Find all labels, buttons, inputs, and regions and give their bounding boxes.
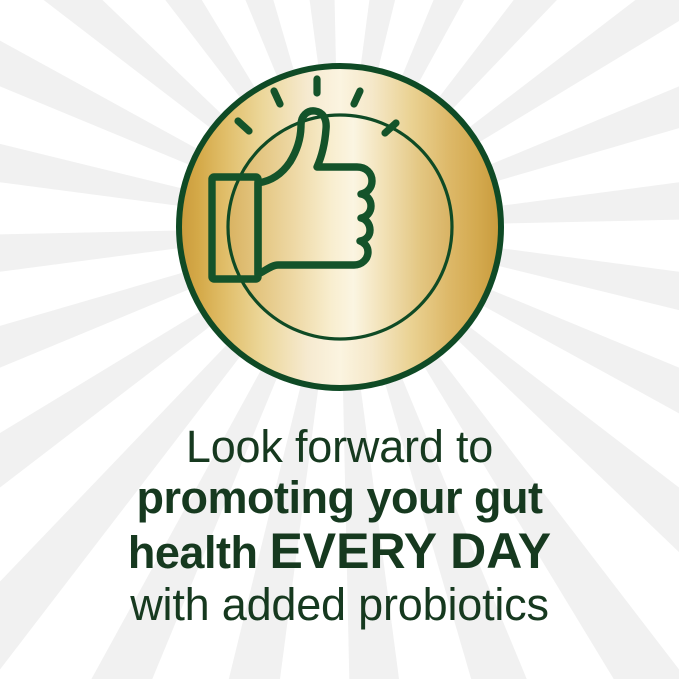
headline-line-3-emphasis: EVERY DAY: [269, 523, 551, 579]
headline-line-4: with added probiotics: [0, 582, 679, 627]
gold-badge: [174, 61, 506, 393]
headline-line-3: health EVERY DAY: [0, 526, 679, 576]
gold-badge-graphic: [174, 61, 506, 393]
headline-line-1: Look forward to: [0, 424, 679, 469]
promo-banner: Look forward to promoting your gut healt…: [0, 0, 679, 679]
headline-line-2: promoting your gut: [0, 475, 679, 520]
headline-line-3-prefix: health: [128, 527, 270, 578]
headline-block: Look forward to promoting your gut healt…: [0, 424, 679, 627]
